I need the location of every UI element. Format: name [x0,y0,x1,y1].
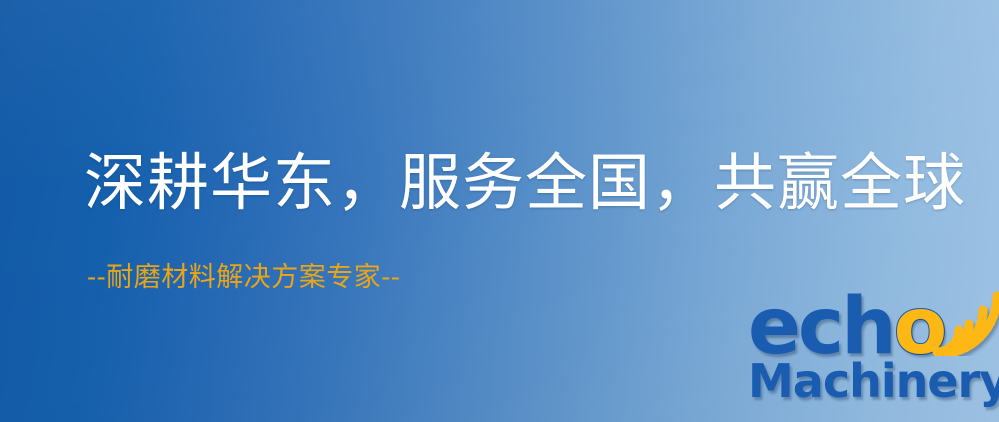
promo-banner: 深耕华东，服务全国，共赢全球 --耐磨材料解决方案专家-- echo Machi… [0,0,999,422]
banner-subtitle: --耐磨材料解决方案专家-- [87,263,401,293]
logo-tagline-text: Machinery [748,354,999,408]
banner-headline: 深耕华东，服务全国，共赢全球 [84,150,966,217]
echo-signal-arcs-icon [923,290,999,356]
echo-machinery-logo[interactable]: echo Machinery® [745,292,999,422]
logo-tagline: Machinery® [748,358,999,404]
